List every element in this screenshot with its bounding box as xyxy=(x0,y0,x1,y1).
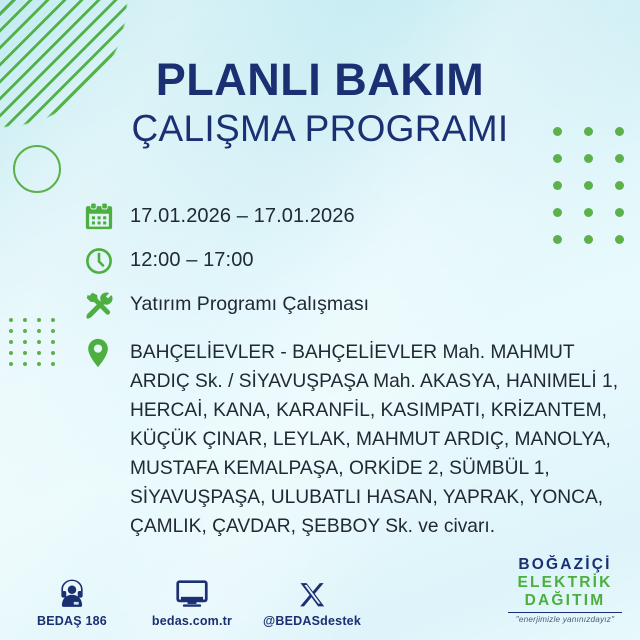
detail-row-work-type: Yatırım Programı Çalışması xyxy=(84,288,624,322)
circle-outline-decoration xyxy=(13,145,61,193)
detail-row-time: 12:00 – 17:00 xyxy=(84,244,624,278)
brand-line-elektrik: ELEKTRİK xyxy=(504,574,626,592)
monitor-icon xyxy=(176,575,208,609)
headset-support-icon xyxy=(57,575,87,609)
planned-maintenance-card: PLANLI BAKIM ÇALIŞMA PROGRAMI xyxy=(0,0,640,640)
footer: BEDAŞ 186 bedas.com.tr xyxy=(0,554,640,640)
title-main: PLANLI BAKIM xyxy=(0,57,640,102)
footer-item-call-center[interactable]: BEDAŞ 186 xyxy=(24,575,120,628)
date-range-value: 17.01.2026 – 17.01.2026 xyxy=(130,200,355,231)
time-range-value: 12:00 – 17:00 xyxy=(130,244,254,275)
dot-grid-decoration-left xyxy=(9,318,65,373)
brand-divider xyxy=(508,612,622,613)
brand-line-dagitim: DAĞITIM xyxy=(504,592,626,610)
x-twitter-icon xyxy=(299,575,326,609)
maintenance-details: 17.01.2026 – 17.01.2026 12:00 – 17:00 xyxy=(84,200,624,551)
location-pin-icon xyxy=(84,336,130,370)
work-type-value: Yatırım Programı Çalışması xyxy=(130,288,369,319)
footer-contact-links: BEDAŞ 186 bedas.com.tr xyxy=(24,575,360,628)
footer-label-website: bedas.com.tr xyxy=(152,614,232,628)
bedas-logo: BOĞAZİÇİ ELEKTRİK DAĞITIM "enerjimizle y… xyxy=(504,556,626,624)
diagonal-stripes-decoration xyxy=(0,0,134,134)
footer-label-x-account: @BEDASdestek xyxy=(263,614,361,628)
tools-icon xyxy=(84,288,130,322)
location-value: BAHÇELİEVLER - BAHÇELİEVLER Mah. MAHMUT … xyxy=(130,336,624,541)
calendar-icon xyxy=(84,200,130,234)
brand-line-bogazici: BOĞAZİÇİ xyxy=(504,556,626,574)
detail-row-date: 17.01.2026 – 17.01.2026 xyxy=(84,200,624,234)
footer-item-website[interactable]: bedas.com.tr xyxy=(144,575,240,628)
page-title: PLANLI BAKIM ÇALIŞMA PROGRAMI xyxy=(0,57,640,151)
footer-label-call-center: BEDAŞ 186 xyxy=(37,614,107,628)
clock-icon xyxy=(84,244,130,278)
detail-row-location: BAHÇELİEVLER - BAHÇELİEVLER Mah. MAHMUT … xyxy=(84,336,624,541)
brand-tagline: "enerjimizle yanınızdayız" xyxy=(504,615,626,624)
title-subtitle: ÇALIŞMA PROGRAMI xyxy=(0,108,640,151)
footer-item-x-account[interactable]: @BEDASdestek xyxy=(264,575,360,628)
